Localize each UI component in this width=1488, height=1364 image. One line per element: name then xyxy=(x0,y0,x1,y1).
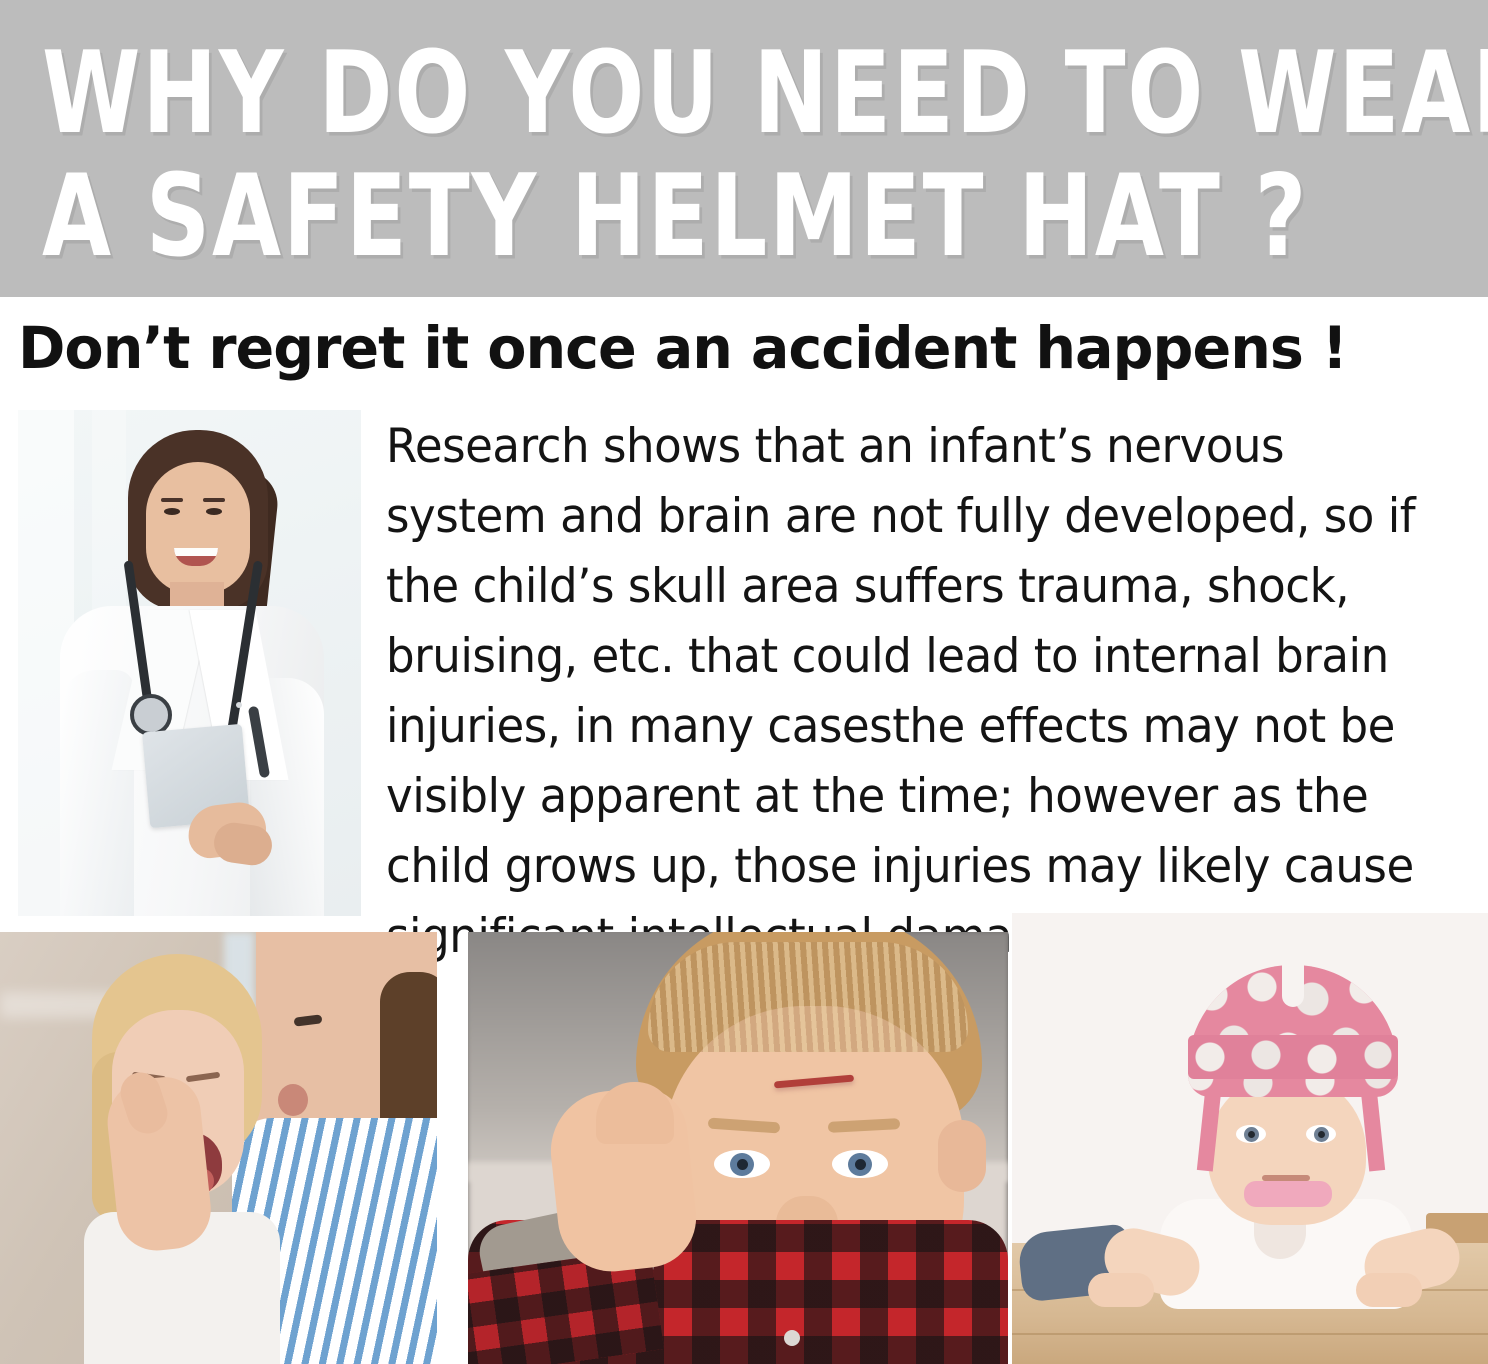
coat-button xyxy=(236,702,242,708)
body-paragraph: Research shows that an infant’s nervous … xyxy=(386,412,1436,972)
doctor-photo xyxy=(18,410,361,916)
iris xyxy=(730,1153,754,1176)
helmet-top-notch xyxy=(1282,965,1304,1007)
doctor-eye-right xyxy=(206,508,222,515)
baby-hand-right xyxy=(1356,1273,1422,1307)
crying-child-photo xyxy=(0,932,437,1364)
header-title-line-1: WHY DO YOU NEED TO WEAR xyxy=(42,36,1488,149)
helmet-band xyxy=(1188,1035,1398,1079)
doctor-brow-right xyxy=(203,498,225,502)
doctor-eye-left xyxy=(164,508,180,515)
pupil xyxy=(855,1159,866,1170)
injured-child-photo xyxy=(468,932,1008,1364)
boy-eye-right xyxy=(832,1150,888,1178)
doctor-face xyxy=(146,462,250,594)
iris xyxy=(848,1153,872,1176)
pupil xyxy=(1318,1131,1325,1138)
pupil xyxy=(1248,1131,1255,1138)
baby-hand-left xyxy=(1088,1273,1154,1307)
boy-hair-texture xyxy=(648,942,968,1052)
subtitle-headline: Don’t regret it once an accident happens… xyxy=(18,312,1456,388)
pupil xyxy=(737,1159,748,1170)
baby-eye-left xyxy=(1236,1125,1266,1143)
mother-lips xyxy=(278,1084,308,1116)
helmet-band-pattern xyxy=(1188,1035,1398,1079)
iris xyxy=(1244,1127,1259,1142)
doctor-sleeve-left xyxy=(60,670,134,916)
doctor-brow-left xyxy=(161,498,183,502)
helmet-chin-strap xyxy=(1244,1181,1332,1207)
shirt-button xyxy=(784,1330,800,1346)
baby-eye-right xyxy=(1306,1125,1336,1143)
header-banner: WHY DO YOU NEED TO WEAR A SAFETY HELMET … xyxy=(0,0,1488,297)
doctor-teeth xyxy=(174,548,218,556)
floor-plank-line xyxy=(1012,1333,1488,1335)
iris xyxy=(1314,1127,1329,1142)
boy-eye-left xyxy=(714,1150,770,1178)
header-title-line-2: A SAFETY HELMET HAT ? xyxy=(42,159,1308,272)
boy-ear xyxy=(938,1120,986,1192)
helmet-baby-photo xyxy=(1012,913,1488,1364)
